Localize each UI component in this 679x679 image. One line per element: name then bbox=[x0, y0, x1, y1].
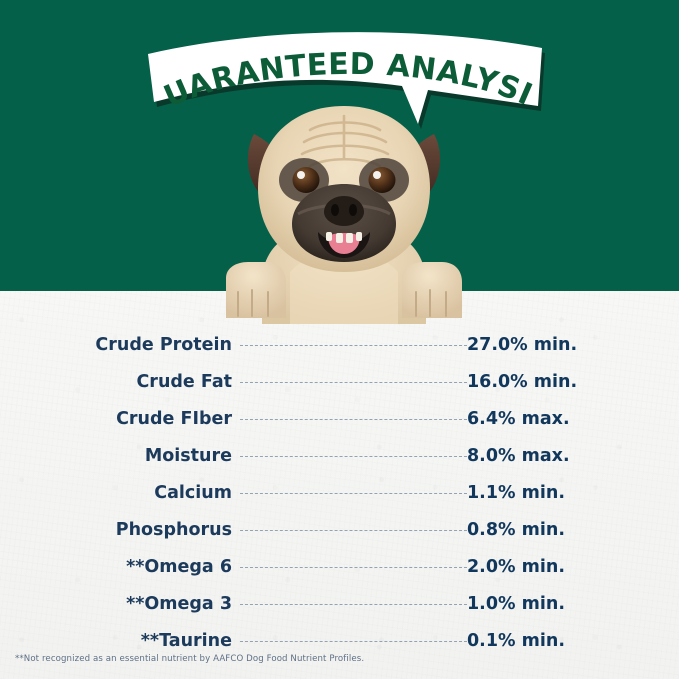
analysis-row: Crude Protein27.0% min. bbox=[0, 326, 679, 363]
nutrient-label: Crude FIber bbox=[0, 409, 232, 429]
dotted-leader bbox=[240, 419, 467, 420]
analysis-row: Crude FIber6.4% max. bbox=[0, 400, 679, 437]
guaranteed-analysis-banner: GUARANTEED ANALYSIS bbox=[140, 28, 550, 138]
nutrient-value: 6.4% max. bbox=[467, 409, 570, 429]
nutrient-label: **Omega 6 bbox=[0, 557, 232, 577]
dotted-leader bbox=[240, 604, 467, 605]
guaranteed-analysis-panel: GUARANTEED ANALYSIS Crude Protein27.0% m… bbox=[0, 0, 679, 679]
dotted-leader bbox=[240, 530, 467, 531]
dog-paw-left bbox=[226, 262, 286, 318]
analysis-row: **Omega 31.0% min. bbox=[0, 585, 679, 622]
nutrient-label: Moisture bbox=[0, 446, 232, 466]
dotted-leader bbox=[240, 493, 467, 494]
nutrient-label: **Omega 3 bbox=[0, 594, 232, 614]
nutrient-value: 0.1% min. bbox=[467, 631, 565, 651]
nutrient-value: 0.8% min. bbox=[467, 520, 565, 540]
dotted-leader bbox=[240, 345, 467, 346]
analysis-row: Phosphorus0.8% min. bbox=[0, 511, 679, 548]
analysis-row: Calcium1.1% min. bbox=[0, 474, 679, 511]
analysis-row: **Omega 62.0% min. bbox=[0, 548, 679, 585]
dotted-leader bbox=[240, 382, 467, 383]
nutrient-value: 8.0% max. bbox=[467, 446, 570, 466]
dog-paw-right bbox=[402, 262, 462, 318]
analysis-row: Moisture8.0% max. bbox=[0, 437, 679, 474]
nutrient-value: 27.0% min. bbox=[467, 335, 577, 355]
nutrient-label: **Taurine bbox=[0, 631, 232, 651]
nutrient-label: Crude Protein bbox=[0, 335, 232, 355]
nutrient-value: 1.1% min. bbox=[467, 483, 565, 503]
nutrient-label: Calcium bbox=[0, 483, 232, 503]
footnote: **Not recognized as an essential nutrien… bbox=[15, 654, 364, 664]
dotted-leader bbox=[240, 456, 467, 457]
nutrient-value: 2.0% min. bbox=[467, 557, 565, 577]
dotted-leader bbox=[240, 567, 467, 568]
nutrient-label: Phosphorus bbox=[0, 520, 232, 540]
analysis-rows: Crude Protein27.0% min.Crude Fat16.0% mi… bbox=[0, 326, 679, 659]
dotted-leader bbox=[240, 641, 467, 642]
nutrient-value: 1.0% min. bbox=[467, 594, 565, 614]
analysis-row: Crude Fat16.0% min. bbox=[0, 363, 679, 400]
nutrient-value: 16.0% min. bbox=[467, 372, 577, 392]
nutrient-label: Crude Fat bbox=[0, 372, 232, 392]
